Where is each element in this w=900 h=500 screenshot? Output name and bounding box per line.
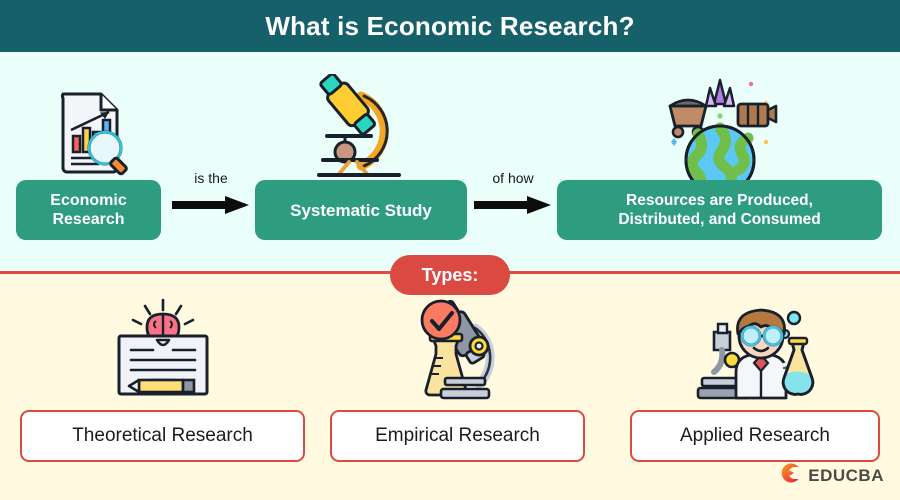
educba-logo-icon [778,461,802,490]
document-bar-chart-magnifier-icon [16,72,161,182]
flow-step-3-pill: Resources are Produced, Distributed, and… [557,180,882,240]
arrow-right-icon [170,194,252,221]
flow-connector-1: is the [170,170,252,224]
type-card-empirical-box: Empirical Research [330,410,585,462]
microscope-flask-check-icon [330,294,585,406]
brain-document-pencil-icon [20,294,305,406]
flow-step-1-pill: Economic Research [16,180,161,240]
brand-name: EDUCBA [808,466,884,486]
type-card-empirical-label: Empirical Research [375,425,540,447]
flow-connector-2-label: of how [472,170,554,186]
flow-step-2: Systematic Study [255,72,467,258]
flow-step-2-pill: Systematic Study [255,180,467,240]
flow-step-3: Resources are Produced, Distributed, and… [557,72,882,258]
brand-logo: EDUCBA [778,461,884,490]
type-card-theoretical: Theoretical Research [20,294,305,462]
type-card-theoretical-label: Theoretical Research [72,425,253,447]
types-section: Theoretical Research [0,274,900,500]
flow-step-3-label-line2: Distributed, and Consumed [618,211,820,228]
page-header: What is Economic Research? [0,0,900,52]
globe-resources-icon [557,72,882,182]
type-card-empirical: Empirical Research [330,294,585,462]
type-card-applied-label: Applied Research [680,425,830,447]
flow-step-1: Economic Research [16,72,161,258]
flow-step-1-label-line1: Economic [50,192,126,209]
microscope-icon [255,72,467,182]
flow-section: Economic Research is the [0,52,900,272]
flow-step-3-label-line1: Resources are Produced, [626,192,813,209]
type-card-applied: Applied Research [630,294,880,462]
flow-step-1-label: Economic Research [40,191,136,229]
type-card-applied-box: Applied Research [630,410,880,462]
flow-step-3-label: Resources are Produced, Distributed, and… [608,191,830,229]
types-badge: Types: [390,255,510,295]
arrow-right-icon [472,194,554,221]
flow-step-2-label: Systematic Study [280,201,442,220]
flow-connector-2: of how [472,170,554,224]
page-title: What is Economic Research? [265,11,634,42]
scientist-flask-icon [630,294,880,406]
types-badge-label: Types: [422,265,479,286]
type-card-theoretical-box: Theoretical Research [20,410,305,462]
flow-connector-1-label: is the [170,170,252,186]
flow-step-1-label-line2: Research [52,211,124,228]
